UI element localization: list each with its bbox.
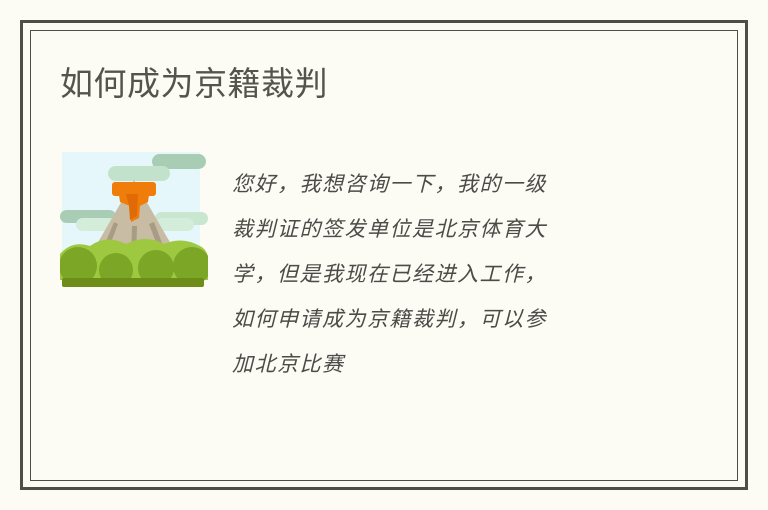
message-line: 学，但是我现在已经进入工作， [232, 252, 652, 297]
message-line: 如何申请成为京籍裁判，可以参 [232, 297, 652, 342]
ground-strip [62, 278, 204, 287]
page-title: 如何成为京籍裁判 [60, 64, 328, 104]
message-line: 加北京比赛 [232, 342, 652, 387]
page-root: 如何成为京籍裁判 [0, 0, 768, 510]
cloud-band-upper [108, 166, 170, 181]
message-body: 您好，我想咨询一下，我的一级 裁判证的签发单位是北京体育大 学，但是我现在已经进… [232, 162, 652, 387]
content-area: 您好，我想咨询一下，我的一级 裁判证的签发单位是北京体育大 学，但是我现在已经进… [60, 150, 680, 410]
message-line: 您好，我想咨询一下，我的一级 [232, 162, 652, 207]
volcano-illustration [60, 150, 208, 296]
message-line: 裁判证的签发单位是北京体育大 [232, 207, 652, 252]
